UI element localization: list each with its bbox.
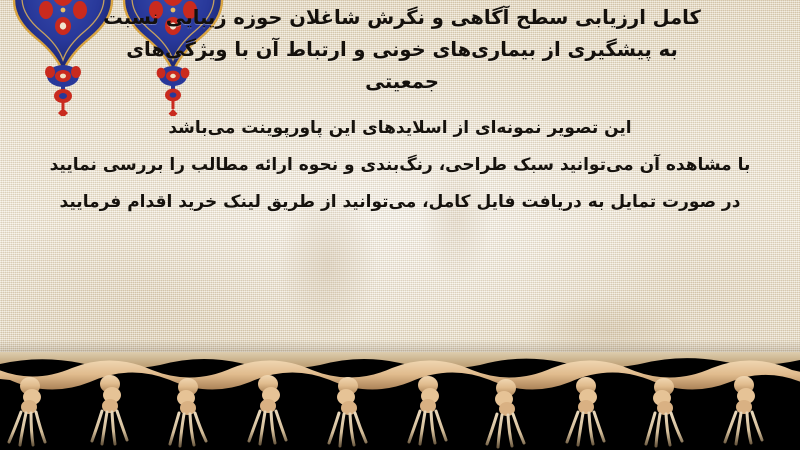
body-line-2: با مشاهده آن می‌توانید سبک طراحی، رنگ‌بن… [20,147,780,184]
presentation-slide: کامل ارزیابی سطح آگاهی و نگرش شاغلان حوز… [0,0,800,450]
body-line-3: در صورت تمایل به دریافت فایل کامل، می‌تو… [20,184,780,221]
title-line-1: کامل ارزیابی سطح آگاهی و نگرش شاغلان حوز… [22,2,782,34]
title-line-3: جمعیتی [22,66,782,98]
slide-body: این تصویر نمونه‌ای از اسلایدهای این پاور… [20,110,780,221]
body-line-1: این تصویر نمونه‌ای از اسلایدهای این پاور… [20,110,780,147]
title-line-2: به پیشگیری از بیماری‌های خونی و ارتباط آ… [22,34,782,66]
slide-title: کامل ارزیابی سطح آگاهی و نگرش شاغلان حوز… [22,2,782,98]
slide-text-layer: کامل ارزیابی سطح آگاهی و نگرش شاغلان حوز… [0,0,800,368]
knotted-carpet-fringe-icon [0,352,800,450]
